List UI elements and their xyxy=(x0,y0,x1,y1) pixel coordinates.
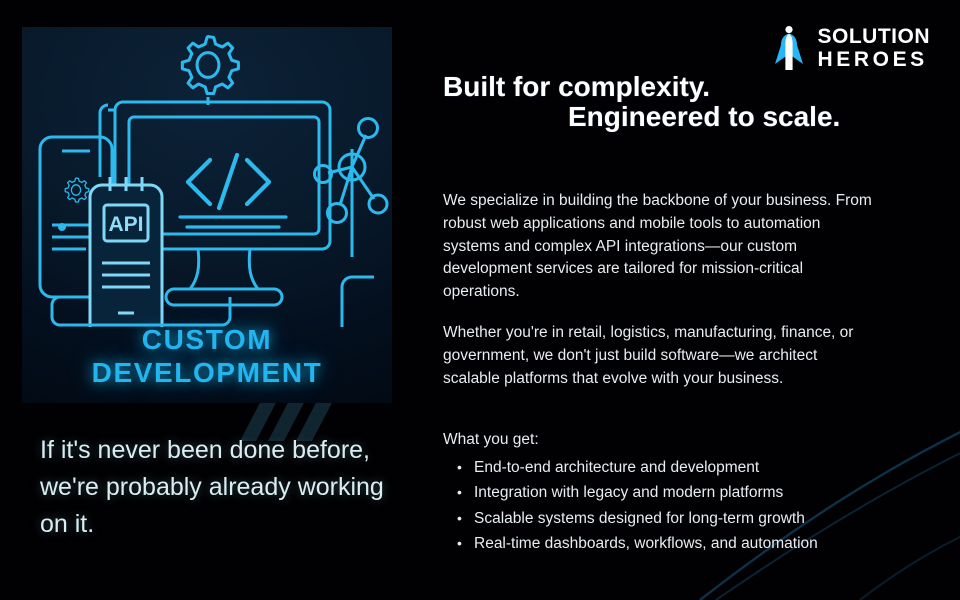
tagline: If it's never been done before, we're pr… xyxy=(40,432,415,543)
illustration-card: API CUSTOM DEVELOPMENT xyxy=(22,27,392,403)
headline-line2: Engineered to scale. xyxy=(443,102,883,132)
headline-line1: Built for complexity. xyxy=(443,71,710,102)
card-title-line2: DEVELOPMENT xyxy=(22,356,392,389)
paragraph-2: Whether you're in retail, logistics, man… xyxy=(443,322,875,390)
hero-figure-icon xyxy=(772,24,806,72)
what-you-get-section: What you get: End-to-end architecture an… xyxy=(443,429,883,557)
list-item: Real-time dashboards, workflows, and aut… xyxy=(443,531,883,557)
list-item: Integration with legacy and modern platf… xyxy=(443,480,883,506)
network-node-icon xyxy=(315,119,388,258)
card-title-line1: CUSTOM xyxy=(22,323,392,356)
brand-name-line2: HEROES xyxy=(818,48,931,71)
benefits-list: End-to-end architecture and development … xyxy=(443,455,883,557)
body-copy: We specialize in building the backbone o… xyxy=(443,190,875,390)
list-item: End-to-end architecture and development xyxy=(443,455,883,481)
phone-dot xyxy=(58,223,66,231)
page-title: Built for complexity. Engineered to scal… xyxy=(443,72,883,132)
list-item: Scalable systems designed for long-term … xyxy=(443,506,883,532)
code-symbol-icon xyxy=(188,155,269,208)
card-title: CUSTOM DEVELOPMENT xyxy=(22,323,392,389)
what-you-get-label: What you get: xyxy=(443,429,883,452)
paragraph-1: We specialize in building the backbone o… xyxy=(443,190,875,304)
brand-logo: SOLUTION HEROES xyxy=(772,24,931,72)
api-label: API xyxy=(108,213,143,236)
api-card-icon xyxy=(90,177,162,327)
brand-name-line1: SOLUTION xyxy=(818,25,931,48)
gear-icon xyxy=(182,37,238,94)
custom-development-illustration: API xyxy=(22,27,392,327)
code-underlines xyxy=(180,217,286,227)
brand-name: SOLUTION HEROES xyxy=(818,25,931,71)
